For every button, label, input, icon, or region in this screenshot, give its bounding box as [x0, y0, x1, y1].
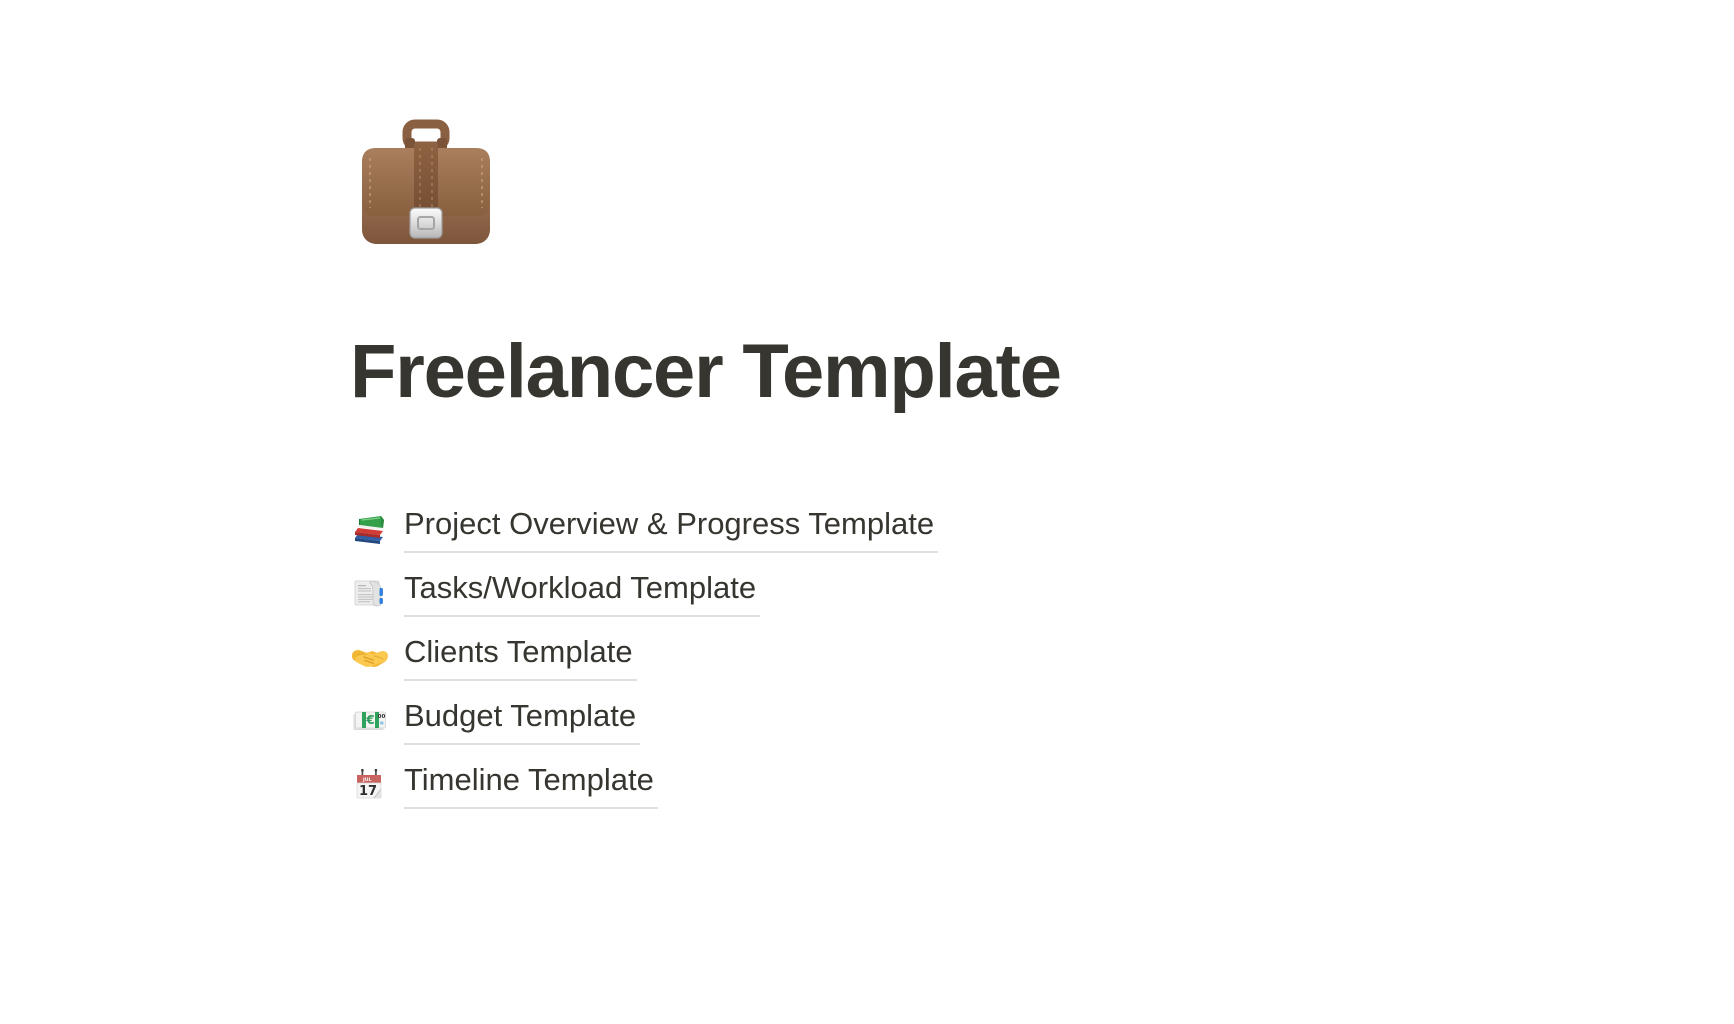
link-project-overview-progress-template[interactable]: Project Overview & Progress Template	[404, 504, 938, 553]
calendar-month-label: JUL	[362, 777, 371, 783]
list-item: Tasks/Workload Template	[350, 560, 1450, 624]
euro-banknote-icon: € 00	[350, 698, 394, 742]
calendar-day-label: 17	[359, 784, 377, 799]
svg-text:€: €	[365, 713, 374, 727]
handshake-icon	[350, 634, 394, 678]
list-item: JUL 17 Timeline Template	[350, 752, 1450, 816]
list-item: Project Overview & Progress Template	[350, 496, 1450, 560]
document-page: Freelancer Template	[0, 0, 1734, 1024]
link-timeline-template[interactable]: Timeline Template	[404, 760, 658, 809]
link-clients-template[interactable]: Clients Template	[404, 632, 637, 681]
briefcase-icon[interactable]	[350, 112, 502, 264]
link-budget-template[interactable]: Budget Template	[404, 696, 640, 745]
tear-off-calendar-icon: JUL 17	[350, 762, 394, 806]
page-title[interactable]: Freelancer Template	[350, 326, 1450, 418]
link-tasks-workload-template[interactable]: Tasks/Workload Template	[404, 568, 760, 617]
svg-text:00: 00	[378, 714, 386, 720]
rolled-up-newspaper-icon	[350, 570, 394, 614]
list-item: Clients Template	[350, 624, 1450, 688]
list-item: € 00 Budget Template	[350, 688, 1450, 752]
page-content-column: Freelancer Template	[350, 0, 1450, 816]
books-icon	[350, 506, 394, 550]
template-link-list: Project Overview & Progress Template	[350, 496, 1450, 816]
